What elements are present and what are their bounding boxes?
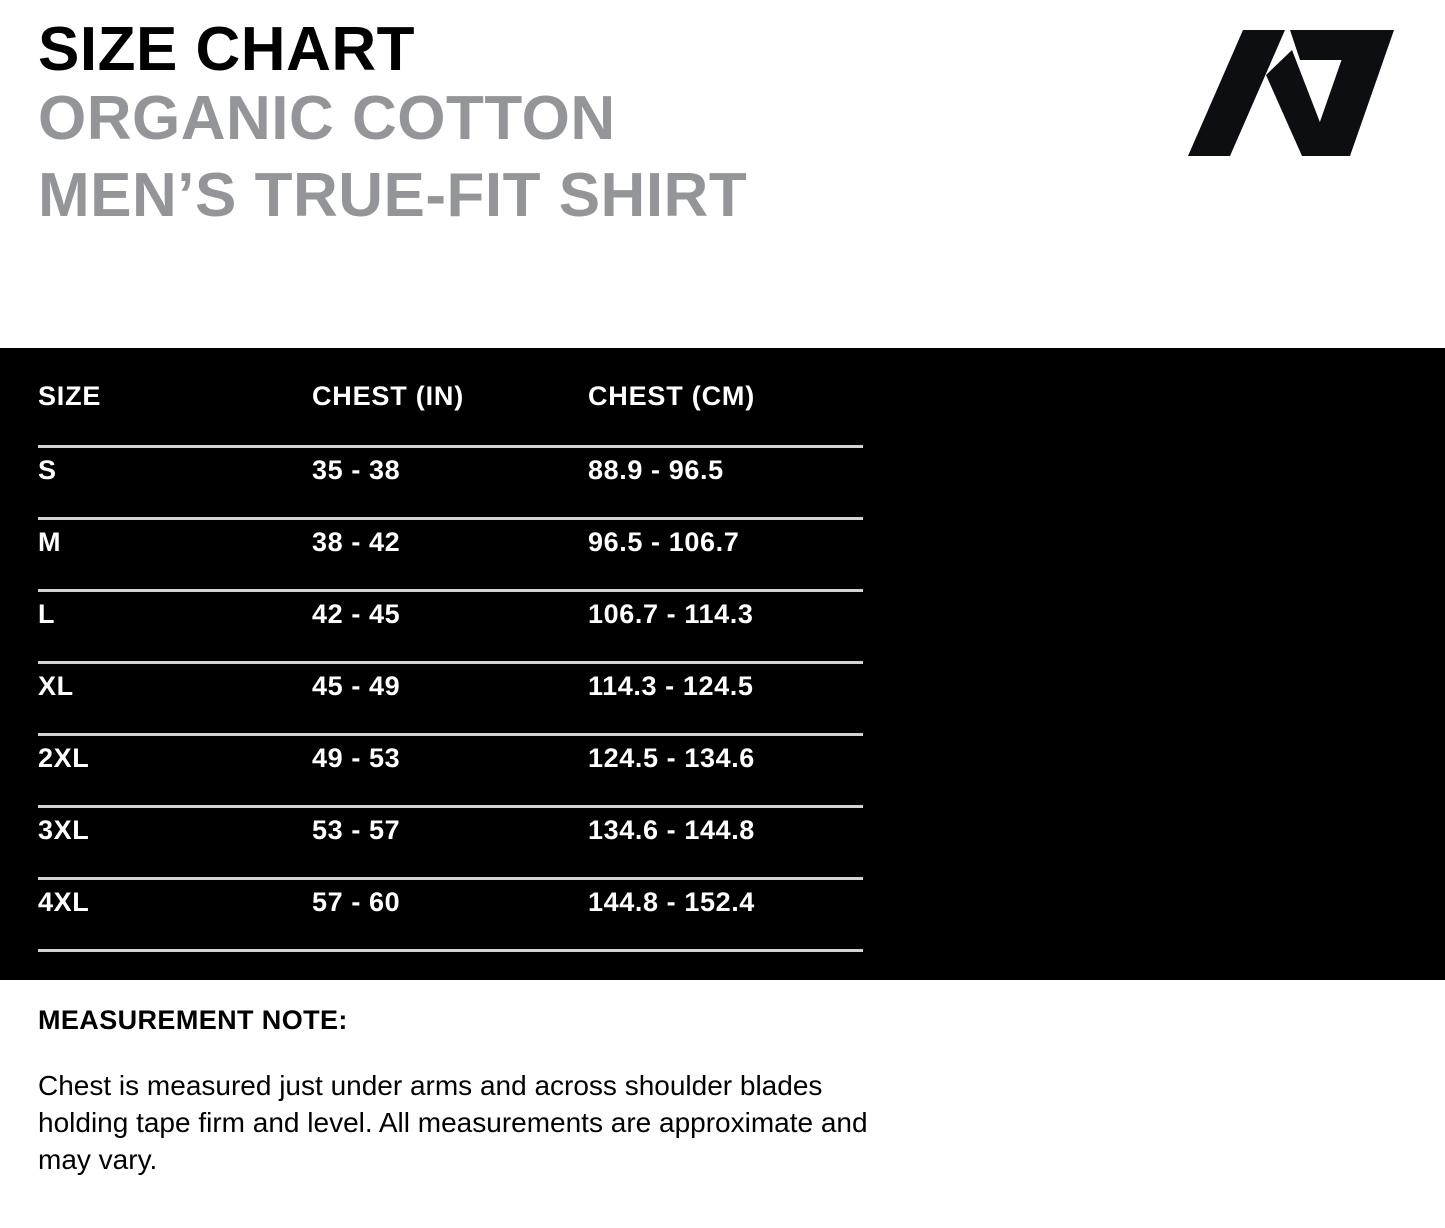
column-header-size: SIZE [38,374,101,418]
size-table: SIZE CHEST (IN) CHEST (CM) S 35 - 38 88.… [38,374,863,952]
table-row: M 38 - 42 96.5 - 106.7 [38,520,863,592]
title-block: SIZE CHART ORGANIC COTTON MEN’S TRUE-FIT… [38,18,1038,235]
cell-chest-cm: 96.5 - 106.7 [588,520,739,564]
size-table-panel: SIZE CHEST (IN) CHEST (CM) S 35 - 38 88.… [0,348,1445,980]
size-chart-page: SIZE CHART ORGANIC COTTON MEN’S TRUE-FIT… [0,0,1445,1228]
measurement-note-title: MEASUREMENT NOTE: [38,1005,348,1036]
cell-chest-in: 45 - 49 [312,664,400,708]
cell-chest-in: 42 - 45 [312,592,400,636]
cell-chest-in: 49 - 53 [312,736,400,780]
column-header-chest-cm: CHEST (CM) [588,374,755,418]
cell-chest-cm: 114.3 - 124.5 [588,664,753,708]
subtitle-line-1: ORGANIC COTTON [38,81,1038,158]
column-header-chest-in: CHEST (IN) [312,374,464,418]
table-row: 2XL 49 - 53 124.5 - 134.6 [38,736,863,808]
cell-chest-in: 57 - 60 [312,880,400,924]
row-divider [38,949,863,952]
cell-chest-cm: 88.9 - 96.5 [588,448,724,492]
table-header-row: SIZE CHEST (IN) CHEST (CM) [38,374,863,448]
measurement-note-body: Chest is measured just under arms and ac… [38,1068,908,1179]
measurement-note-section: MEASUREMENT NOTE: Chest is measured just… [0,980,1445,1228]
cell-size: 4XL [38,880,89,924]
cell-chest-in: 35 - 38 [312,448,400,492]
cell-size: S [38,448,57,492]
cell-size: XL [38,664,74,708]
subtitle-line-2: MEN’S TRUE-FIT SHIRT [38,158,1038,235]
cell-chest-cm: 106.7 - 114.3 [588,592,753,636]
cell-size: 2XL [38,736,89,780]
cell-size: L [38,592,55,636]
table-row: 4XL 57 - 60 144.8 - 152.4 [38,880,863,952]
header-section: SIZE CHART ORGANIC COTTON MEN’S TRUE-FIT… [0,0,1445,348]
cell-chest-in: 53 - 57 [312,808,400,852]
table-row: XL 45 - 49 114.3 - 124.5 [38,664,863,736]
table-row: L 42 - 45 106.7 - 114.3 [38,592,863,664]
cell-chest-cm: 144.8 - 152.4 [588,880,755,924]
page-title: SIZE CHART [38,18,1038,81]
cell-size: 3XL [38,808,89,852]
cell-chest-cm: 124.5 - 134.6 [588,736,755,780]
table-row: 3XL 53 - 57 134.6 - 144.8 [38,808,863,880]
table-row: S 35 - 38 88.9 - 96.5 [38,448,863,520]
a7-logo-icon [1188,28,1394,158]
cell-size: M [38,520,61,564]
cell-chest-cm: 134.6 - 144.8 [588,808,755,852]
cell-chest-in: 38 - 42 [312,520,400,564]
